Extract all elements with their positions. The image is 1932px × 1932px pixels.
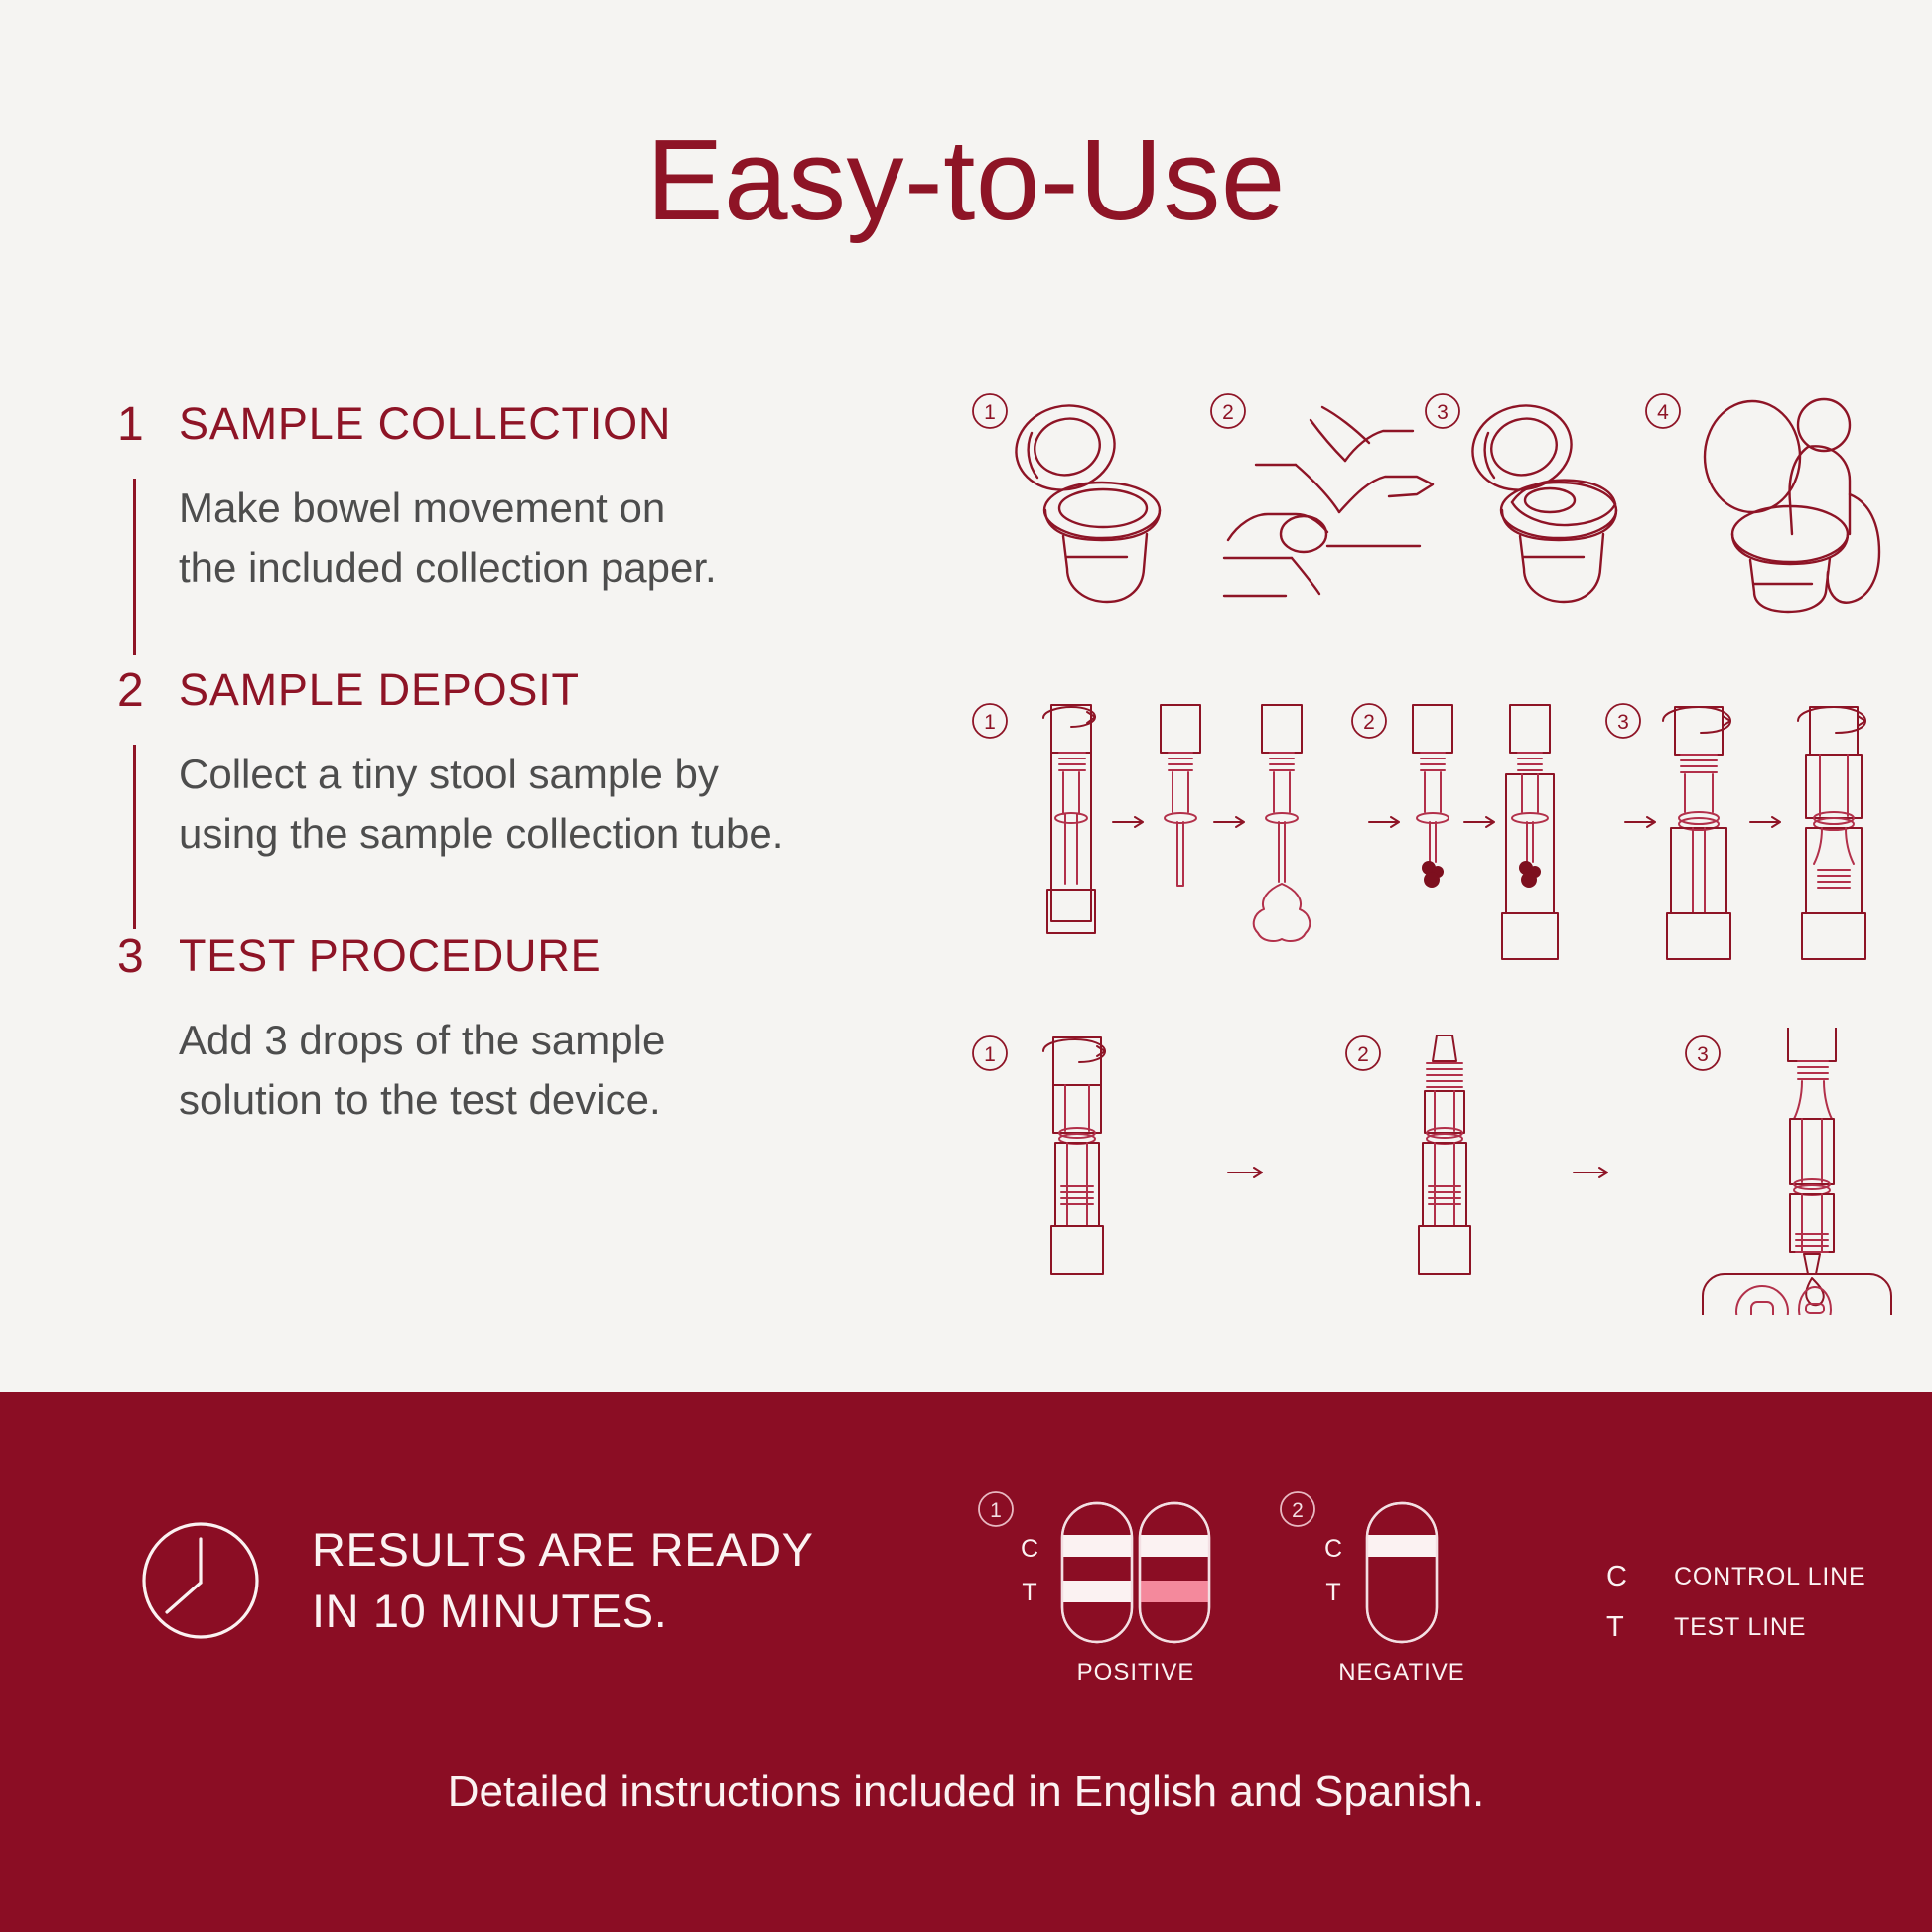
svg-text:2: 2 — [1363, 711, 1375, 734]
step-header: 2 SAMPLE DEPOSIT — [117, 663, 892, 715]
tube-dispensing-drop-icon — [1703, 1028, 1891, 1315]
test-marker-label: T — [1022, 1579, 1036, 1606]
legend-key: C — [1606, 1561, 1674, 1593]
step-description: Make bowel movement on the included coll… — [179, 479, 874, 597]
legend-key: T — [1606, 1611, 1674, 1644]
legend-item: T TEST LINE — [1606, 1611, 1865, 1644]
legend-label: TEST LINE — [1674, 1613, 1806, 1642]
control-marker-label: C — [1021, 1535, 1038, 1563]
tube-dropper-tip-icon — [1419, 1035, 1470, 1274]
step-header: 3 TEST PROCEDURE — [117, 929, 892, 981]
step-description-line: Add 3 drops of the sample — [179, 1011, 874, 1070]
negative-result-group: 2 C T NEGATIVE — [1281, 1492, 1465, 1686]
result-badge-2: 2 — [1292, 1499, 1304, 1522]
result-badge-1: 1 — [990, 1499, 1002, 1522]
tube-capped-final-icon — [1798, 707, 1865, 959]
legend-label: CONTROL LINE — [1674, 1563, 1865, 1591]
illustration-badge-2: 2 — [1211, 394, 1245, 428]
step-number: 3 — [117, 929, 179, 981]
step-description-line: using the sample collection tube. — [179, 804, 874, 864]
illustration-row-sample-collection: 1 2 — [968, 385, 1921, 614]
step-title: SAMPLE DEPOSIT — [179, 663, 580, 712]
svg-text:3: 3 — [1697, 1043, 1709, 1066]
stick-inserted-in-tube-icon — [1502, 705, 1558, 959]
results-line: RESULTS ARE READY — [312, 1519, 814, 1581]
positive-strip-strong — [1062, 1503, 1132, 1642]
toilet-open-icon — [1007, 395, 1160, 602]
step-connector-line — [133, 745, 136, 929]
results-line: IN 10 MINUTES. — [312, 1581, 814, 1642]
results-ready-text: RESULTS ARE READY IN 10 MINUTES. — [312, 1519, 814, 1642]
step-description: Collect a tiny stool sample by using the… — [179, 745, 874, 863]
results-ready-block: RESULTS ARE READY IN 10 MINUTES. — [137, 1517, 814, 1644]
collection-tube-closed-icon — [1043, 705, 1095, 933]
step-description-line: solution to the test device. — [179, 1070, 874, 1130]
collection-stick-icon — [1161, 705, 1200, 886]
svg-text:1: 1 — [984, 711, 996, 734]
step-item: 3 TEST PROCEDURE Add 3 drops of the samp… — [117, 929, 892, 1195]
illustration-badge-1: 1 — [973, 1036, 1007, 1070]
control-marker-label: C — [1324, 1535, 1342, 1563]
step-title: TEST PROCEDURE — [179, 929, 601, 978]
svg-text:1: 1 — [984, 401, 996, 424]
positive-strip-weak — [1140, 1503, 1209, 1642]
clock-icon — [137, 1517, 264, 1644]
positive-result-group: 1 C T POSITIVE — [979, 1492, 1209, 1686]
svg-text:2: 2 — [1222, 401, 1234, 424]
steps-list: 1 SAMPLE COLLECTION Make bowel movement … — [117, 397, 892, 1195]
negative-strip — [1367, 1503, 1437, 1642]
illustration-badge-1: 1 — [973, 394, 1007, 428]
illustration-row-test-procedure: 1 2 — [968, 1028, 1921, 1306]
illustration-badge-2: 2 — [1352, 704, 1386, 738]
step-description: Add 3 drops of the sample solution to th… — [179, 1011, 874, 1129]
hand-with-paper-icon — [1224, 407, 1433, 596]
svg-text:3: 3 — [1617, 711, 1629, 734]
illustration-badge-3: 3 — [1686, 1036, 1720, 1070]
tube-capping-icon — [1663, 707, 1730, 959]
collection-stick-with-sample-icon — [1254, 705, 1311, 941]
svg-text:1: 1 — [984, 1043, 996, 1066]
legend-item: C CONTROL LINE — [1606, 1561, 1865, 1593]
step-description-line: Make bowel movement on — [179, 479, 874, 538]
svg-text:2: 2 — [1357, 1043, 1369, 1066]
person-seated-on-toilet-icon — [1705, 399, 1879, 612]
step-connector-line — [133, 479, 136, 655]
svg-text:3: 3 — [1437, 401, 1449, 424]
illustration-row-sample-deposit: 1 — [968, 695, 1921, 963]
step-description-line: the included collection paper. — [179, 538, 874, 598]
positive-label: POSITIVE — [1077, 1659, 1195, 1686]
step-item: 1 SAMPLE COLLECTION Make bowel movement … — [117, 397, 892, 663]
results-banner: RESULTS ARE READY IN 10 MINUTES. 1 C T — [0, 1392, 1932, 1932]
illustration-badge-2: 2 — [1346, 1036, 1380, 1070]
step-number: 2 — [117, 663, 179, 715]
illustration-badge-1: 1 — [973, 704, 1007, 738]
illustration-badge-3: 3 — [1426, 394, 1459, 428]
step-title: SAMPLE COLLECTION — [179, 397, 671, 446]
instructions-section: Easy-to-Use 1 SAMPLE COLLECTION Make bow… — [0, 0, 1932, 1392]
result-devices-diagram: 1 C T POSITIVE — [978, 1491, 1593, 1739]
test-marker-label: T — [1325, 1579, 1340, 1606]
step-number: 1 — [117, 397, 179, 449]
svg-text:4: 4 — [1657, 401, 1669, 424]
illustration-badge-3: 3 — [1606, 704, 1640, 738]
toilet-with-paper-icon — [1463, 395, 1616, 602]
step-header: 1 SAMPLE COLLECTION — [117, 397, 892, 449]
stick-with-small-sample-icon — [1413, 705, 1452, 888]
page-title: Easy-to-Use — [0, 117, 1932, 244]
tube-with-twist-cap-icon — [1043, 1037, 1105, 1274]
footer-note: Detailed instructions included in Englis… — [0, 1767, 1932, 1817]
illustration-badge-4: 4 — [1646, 394, 1680, 428]
step-item: 2 SAMPLE DEPOSIT Collect a tiny stool sa… — [117, 663, 892, 929]
step-description-line: Collect a tiny stool sample by — [179, 745, 874, 804]
result-legend: C CONTROL LINE T TEST LINE — [1606, 1561, 1865, 1662]
negative-label: NEGATIVE — [1338, 1659, 1465, 1686]
